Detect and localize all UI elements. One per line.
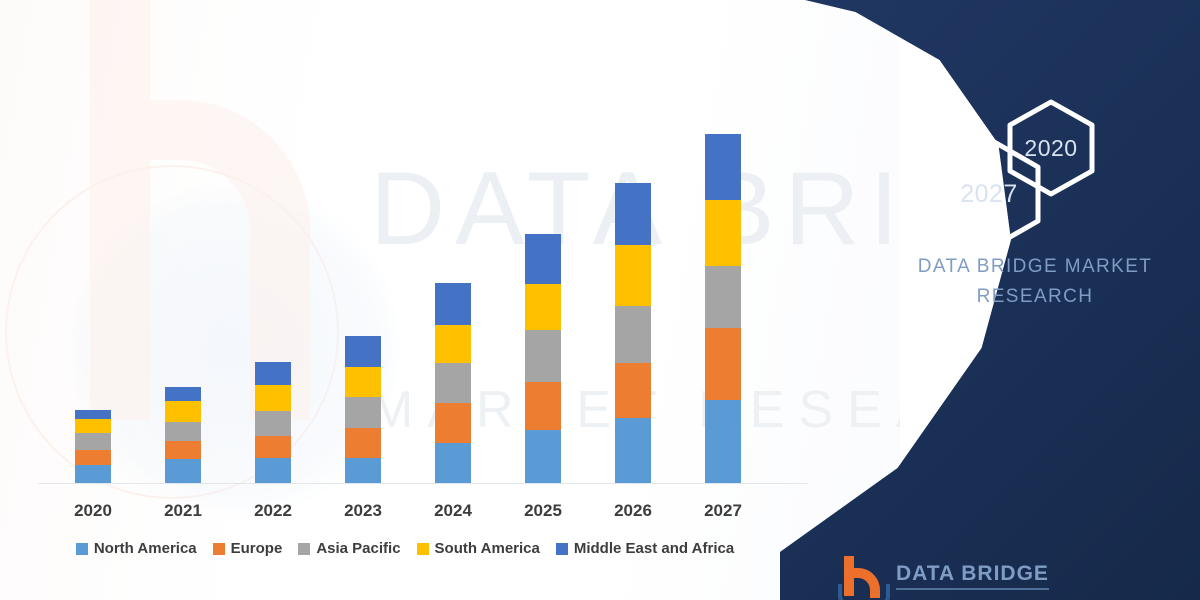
legend-label: Middle East and Africa xyxy=(574,540,734,557)
bar-segment xyxy=(435,443,471,483)
bar-2026 xyxy=(615,183,651,483)
legend-swatch-icon xyxy=(298,543,310,555)
logo-mark-icon xyxy=(842,556,884,596)
bar-segment xyxy=(705,328,741,400)
bar-segment xyxy=(615,306,651,363)
legend-item-4[interactable]: Middle East and Africa xyxy=(556,540,734,557)
bar-2027 xyxy=(705,134,741,483)
bar-segment xyxy=(435,325,471,363)
bar-segment xyxy=(75,433,111,450)
bar-segment xyxy=(165,387,201,401)
bar-segment xyxy=(525,382,561,430)
brand-title: DATA BRIDGE MARKET RESEARCH xyxy=(880,252,1190,312)
bar-segment xyxy=(705,200,741,266)
x-tick-2021: 2021 xyxy=(138,501,228,521)
bar-segment xyxy=(165,441,201,459)
chart-panel: DATA BRIDGE MARKET RESEARCH 202020212022… xyxy=(0,0,900,600)
bar-segment xyxy=(525,430,561,483)
legend-item-3[interactable]: South America xyxy=(417,540,540,557)
bar-segment xyxy=(165,401,201,422)
bar-segment xyxy=(75,465,111,483)
bar-segment xyxy=(615,245,651,306)
x-tick-2023: 2023 xyxy=(318,501,408,521)
x-tick-2025: 2025 xyxy=(498,501,588,521)
bar-segment xyxy=(345,458,381,483)
bar-segment xyxy=(75,410,111,419)
legend-swatch-icon xyxy=(417,543,429,555)
legend-label: Asia Pacific xyxy=(316,540,400,557)
chart-legend: North AmericaEuropeAsia PacificSouth Ame… xyxy=(0,540,810,557)
bar-segment xyxy=(525,234,561,284)
bar-segment xyxy=(345,428,381,458)
bar-segment xyxy=(615,418,651,483)
x-tick-2022: 2022 xyxy=(228,501,318,521)
bar-segment xyxy=(75,450,111,465)
bar-segment xyxy=(345,397,381,428)
legend-item-1[interactable]: Europe xyxy=(213,540,283,557)
x-tick-2024: 2024 xyxy=(408,501,498,521)
legend-label: North America xyxy=(94,540,197,557)
bar-segment xyxy=(435,403,471,443)
bar-segment xyxy=(705,266,741,328)
bar-segment xyxy=(435,363,471,403)
logo-wordmark: DATA BRIDGE xyxy=(896,562,1049,590)
brand-title-line2: RESEARCH xyxy=(880,282,1190,312)
bar-segment xyxy=(525,284,561,330)
bar-segment xyxy=(615,363,651,418)
brand-title-line1: DATA BRIDGE MARKET xyxy=(880,252,1190,282)
bar-segment xyxy=(255,362,291,385)
legend-swatch-icon xyxy=(213,543,225,555)
bar-segment xyxy=(615,183,651,245)
bar-segment xyxy=(255,436,291,458)
bar-2025 xyxy=(525,234,561,483)
bar-segment xyxy=(435,283,471,324)
bar-segment xyxy=(705,400,741,483)
chart-infographic: DATA BRIDGE MARKET RESEARCH 202020212022… xyxy=(0,0,1200,600)
bar-segment xyxy=(75,419,111,433)
bar-segment xyxy=(165,422,201,441)
bar-segment xyxy=(345,367,381,397)
bar-segment xyxy=(705,134,741,200)
bar-segment xyxy=(255,458,291,483)
x-tick-2026: 2026 xyxy=(588,501,678,521)
legend-label: South America xyxy=(435,540,540,557)
legend-swatch-icon xyxy=(556,543,568,555)
bar-segment xyxy=(165,459,201,483)
x-tick-2020: 2020 xyxy=(48,501,138,521)
axis-baseline xyxy=(38,483,808,484)
plot-area: 20202021202220232024202520262027 xyxy=(0,0,900,600)
legend-swatch-icon xyxy=(76,543,88,555)
hexagon-end-year-label: 2027 xyxy=(960,180,1018,209)
bar-segment xyxy=(255,411,291,436)
bar-2022 xyxy=(255,362,291,483)
bar-2020 xyxy=(75,410,111,483)
x-tick-2027: 2027 xyxy=(678,501,768,521)
bar-segment xyxy=(255,385,291,411)
hexagon-end-year: 2027 xyxy=(935,135,1043,253)
legend-item-0[interactable]: North America xyxy=(76,540,197,557)
data-bridge-logo: DATA BRIDGE xyxy=(842,556,1049,596)
bar-2024 xyxy=(435,283,471,483)
bar-2023 xyxy=(345,336,381,483)
bar-segment xyxy=(345,336,381,367)
legend-label: Europe xyxy=(231,540,283,557)
bar-segment xyxy=(525,330,561,382)
legend-item-2[interactable]: Asia Pacific xyxy=(298,540,400,557)
bar-2021 xyxy=(165,387,201,483)
